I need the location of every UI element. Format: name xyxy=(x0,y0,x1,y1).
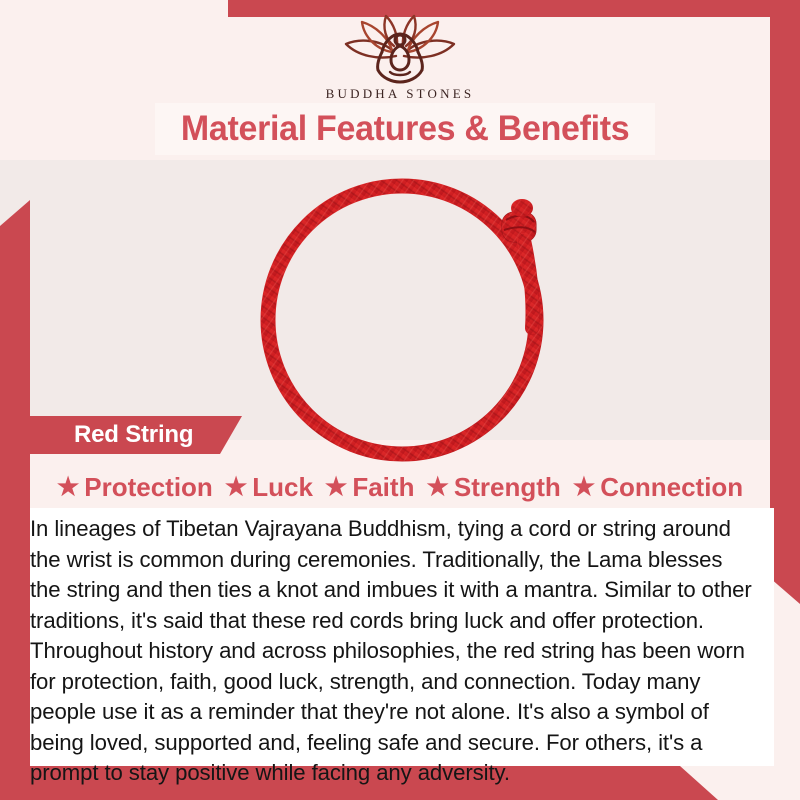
benefit-label: Faith xyxy=(352,472,414,503)
benefit-item-protection: ★ Protection xyxy=(51,472,219,503)
lotus-meditation-icon xyxy=(334,12,466,84)
star-icon: ★ xyxy=(426,475,448,500)
description-text: In lineages of Tibetan Vajrayana Buddhis… xyxy=(30,514,755,789)
benefit-label: Connection xyxy=(600,472,743,503)
benefit-label: Protection xyxy=(84,472,213,503)
brand-name: BUDDHA STONES xyxy=(0,86,800,102)
benefit-item-strength: ★ Strength xyxy=(420,472,566,503)
product-name-label: Red String xyxy=(74,421,193,449)
benefits-row: ★ Protection ★ Luck ★ Faith ★ Strength ★… xyxy=(0,466,800,508)
benefit-item-connection: ★ Connection xyxy=(567,472,749,503)
benefit-item-faith: ★ Faith xyxy=(319,472,421,503)
infographic-page: BUDDHA STONES Material Features & Benefi… xyxy=(0,0,800,800)
title-banner: Material Features & Benefits xyxy=(155,103,655,155)
star-icon: ★ xyxy=(57,475,79,500)
benefit-label: Luck xyxy=(252,472,313,503)
star-icon: ★ xyxy=(573,475,595,500)
benefit-item-luck: ★ Luck xyxy=(219,472,319,503)
page-title: Material Features & Benefits xyxy=(181,109,629,149)
benefit-label: Strength xyxy=(454,472,561,503)
description-panel: In lineages of Tibetan Vajrayana Buddhis… xyxy=(30,508,774,766)
product-image-red-string-bracelet xyxy=(230,168,590,468)
braided-bracelet-illustration xyxy=(230,168,590,468)
product-name-banner: Red String xyxy=(22,416,242,454)
star-icon: ★ xyxy=(325,475,347,500)
star-icon: ★ xyxy=(225,475,247,500)
brand-logo: BUDDHA STONES xyxy=(0,12,800,102)
